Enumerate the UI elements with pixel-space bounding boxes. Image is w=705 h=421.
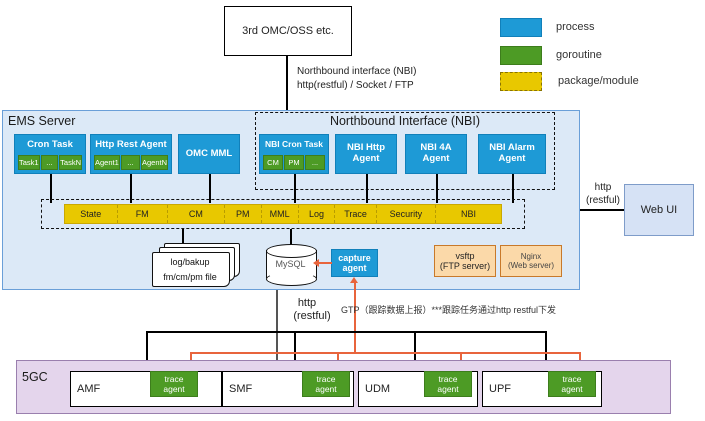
external-system-box: 3rd OMC/OSS etc. [224,6,352,56]
module-log[interactable]: Log [299,205,336,223]
http-rest-agent-goroutines: Agent1 ... AgentN [94,155,168,170]
process-nbi-alarm-agent[interactable]: NBI Alarm Agent [478,134,546,174]
goroutine-agent1: Agent1 [94,155,120,170]
process-nbi-4a-agent[interactable]: NBI 4A Agent [405,134,467,174]
capture-agent-label-line1: capture [338,253,371,263]
trace-agent-amf-line1: trace [165,374,184,384]
module-cm[interactable]: CM [168,205,225,223]
legend-label-process: process [556,21,595,33]
trace-agent-upf[interactable]: trace agent [548,371,596,397]
legend-swatch-process [500,18,542,37]
process-nbi-http-agent[interactable]: NBI Http Agent [335,134,397,174]
goroutine-task1: Task1 [18,155,40,170]
black-bus-line [146,331,546,333]
trace-agent-smf-line1: trace [317,374,336,384]
module-security[interactable]: Security [377,205,436,223]
process-nbi-cron-task[interactable]: NBI Cron Task CM PM ... [259,134,329,174]
trace-agent-amf[interactable]: trace agent [150,371,198,397]
trace-agent-smf[interactable]: trace agent [302,371,350,397]
module-fm[interactable]: FM [118,205,168,223]
goroutine-nbi-ellipsis: ... [305,155,325,170]
server-vsftp: vsftp (FTP server) [434,245,496,277]
trace-agent-udm[interactable]: trace agent [424,371,472,397]
trace-agent-amf-line2: agent [163,384,184,394]
http-restful-label-line2: (restful) [284,310,340,322]
server-vsftp-line1: vsftp [455,251,474,261]
database-label: MySQL [266,259,315,269]
legend-swatch-goroutine [500,46,542,65]
cron-task-goroutines: Task1 ... TaskN [18,155,82,170]
database-mysql: MySQL [266,244,315,284]
trace-agent-udm-line1: trace [439,374,458,384]
webui-connector-line [580,209,624,211]
file-store-line2: fm/cm/pm file [152,272,228,282]
process-omc-mml[interactable]: OMC MML [178,134,240,174]
server-nginx-line1: Nginx [521,252,541,261]
process-http-rest-agent[interactable]: Http Rest Agent Agent1 ... AgentN [90,134,172,174]
goroutine-taskn: TaskN [59,155,82,170]
process-capture-agent[interactable]: capture agent [331,249,378,277]
nf-node-upf-label: UPF [489,383,511,395]
trace-agent-upf-line1: trace [563,374,582,384]
cylinder-bottom [266,272,317,286]
server-vsftp-line2: (FTP server) [440,261,490,271]
gtp-note-label: GTP（跟踪数据上报）***跟踪任务通过http restful下发 [341,303,556,316]
ems-server-title: EMS Server [8,114,75,128]
goroutine-cm: CM [263,155,283,170]
module-pm[interactable]: PM [225,205,262,223]
nf-node-udm-label: UDM [365,383,390,395]
gtp-uplink-arrowhead [350,277,358,283]
module-state[interactable]: State [65,205,118,223]
legend-swatch-package [500,72,542,91]
nbi-group-title: Northbound Interface (NBI) [255,114,555,128]
webui-link-label-line1: http [583,182,623,193]
webui-box[interactable]: Web UI [624,184,694,236]
trace-agent-upf-line2: agent [561,384,582,394]
trace-agent-udm-line2: agent [437,384,458,394]
orange-bus-line [190,352,580,354]
server-nginx-line2: (Web server) [508,261,554,270]
nf-node-amf-label: AMF [77,383,100,395]
nf-node-smf-label: SMF [229,383,252,395]
http-restful-label-line1: http [284,297,330,309]
nbi-link-label-line1: Northbound interface (NBI) [297,66,417,77]
fivegc-title: 5GC [22,370,48,384]
file-store: log/bakup fm/cm/pm file [150,243,242,285]
legend: process goroutine package/module [500,14,700,94]
server-nginx: Nginx (Web server) [500,245,562,277]
goroutine-pm: PM [284,155,304,170]
goroutine-task-ellipsis: ... [41,155,59,170]
trace-agent-smf-line2: agent [315,384,336,394]
process-nbi-cron-task-label: NBI Cron Task [260,135,328,155]
file-store-line1: log/bakup [152,257,228,267]
nf-node-amf[interactable]: AMF [70,371,222,407]
capture-agent-label-line2: agent [342,263,366,273]
nbi-link-label-line2: http(restful) / Socket / FTP [297,80,414,91]
module-trace[interactable]: Trace [335,205,376,223]
capture-to-db-arrowhead [313,259,319,267]
webui-link-label-line2: (restful) [580,195,626,206]
process-cron-task-label: Cron Task [15,135,85,155]
module-nbi[interactable]: NBI [436,205,501,223]
goroutine-agentn: AgentN [141,155,168,170]
capture-to-db-arrow-line [318,262,332,264]
module-mml[interactable]: MML [262,205,299,223]
nbi-connector-line [286,56,288,111]
cylinder-top [266,244,317,258]
legend-label-package: package/module [558,75,639,87]
module-bar: State FM CM PM MML Log Trace Security NB… [64,204,502,224]
nbi-cron-task-goroutines: CM PM ... [263,155,325,170]
gtp-uplink-line [354,283,356,352]
legend-label-goroutine: goroutine [556,49,602,61]
goroutine-agent-ellipsis: ... [121,155,140,170]
process-cron-task[interactable]: Cron Task Task1 ... TaskN [14,134,86,174]
process-http-rest-agent-label: Http Rest Agent [91,135,171,155]
